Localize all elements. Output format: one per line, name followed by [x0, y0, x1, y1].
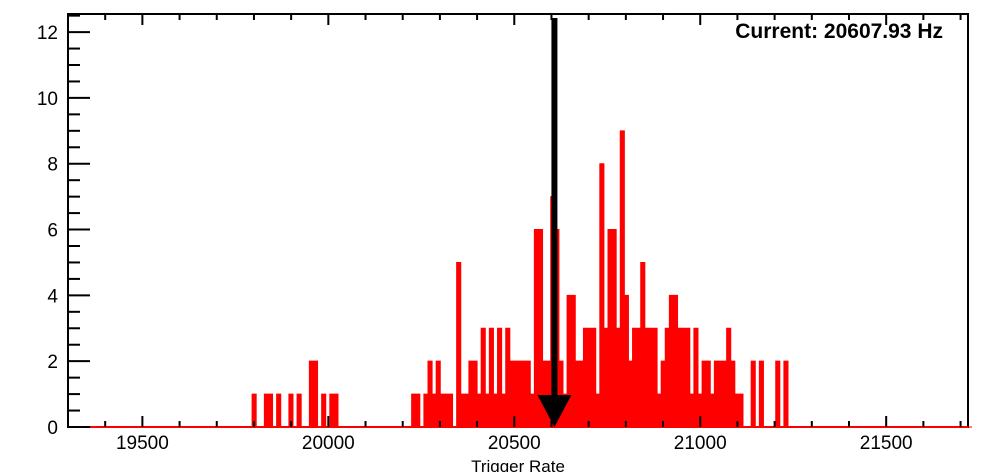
x-tick-label: 21500 [860, 433, 913, 454]
y-tick-label: 8 [47, 155, 58, 176]
x-tick-label: 21000 [674, 433, 727, 454]
y-tick-label: 0 [47, 418, 58, 439]
current-rate-annotation: Current: 20607.93 Hz [735, 20, 943, 43]
y-tick-label: 4 [47, 286, 58, 307]
y-tick-label: 2 [47, 352, 58, 373]
x-axis-title: Trigger Rate [471, 457, 565, 472]
root-canvas: 1950020000205002100021500 024681012 Trig… [0, 0, 996, 472]
x-tick-label: 20000 [302, 433, 355, 454]
y-tick-label: 6 [47, 221, 58, 242]
y-tick-label: 12 [37, 23, 58, 44]
x-tick-label: 19500 [116, 433, 169, 454]
y-tick-label: 10 [37, 89, 58, 110]
x-tick-label: 20500 [488, 433, 541, 454]
trigger-rate-histogram: 1950020000205002100021500 024681012 Trig… [0, 0, 996, 472]
